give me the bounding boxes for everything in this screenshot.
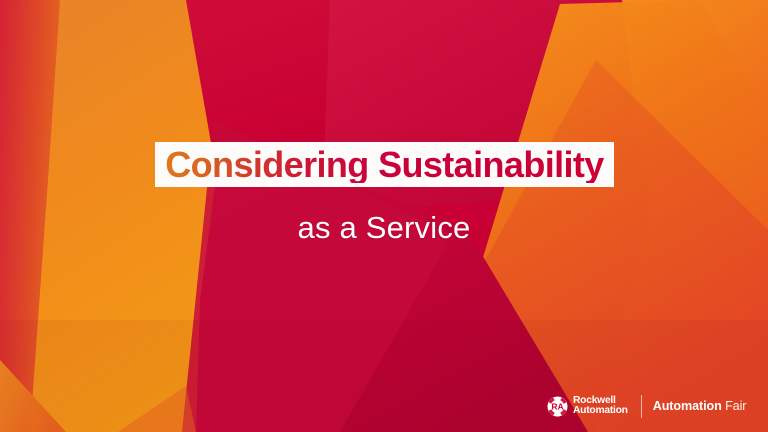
event-name-light: Fair <box>725 399 746 413</box>
svg-text:RA: RA <box>551 401 563 411</box>
rockwell-automation-wordmark: Rockwell Automation <box>573 396 628 417</box>
slide-subtitle: as a Service <box>0 210 768 246</box>
brand-company-line2: Automation <box>573 406 628 417</box>
slide-title-box: Considering Sustainability <box>155 142 614 187</box>
lockup-divider <box>641 395 642 418</box>
presentation-slide: Considering Sustainability as a Service … <box>0 0 768 432</box>
automation-fair-wordmark: Automation Fair <box>653 400 747 413</box>
brand-lockup: RA Rockwell Automation Automation Fair <box>547 391 746 421</box>
event-name-bold: Automation <box>653 399 722 413</box>
rockwell-automation-badge-icon: RA <box>547 396 568 417</box>
page-title: Considering Sustainability <box>161 147 607 183</box>
